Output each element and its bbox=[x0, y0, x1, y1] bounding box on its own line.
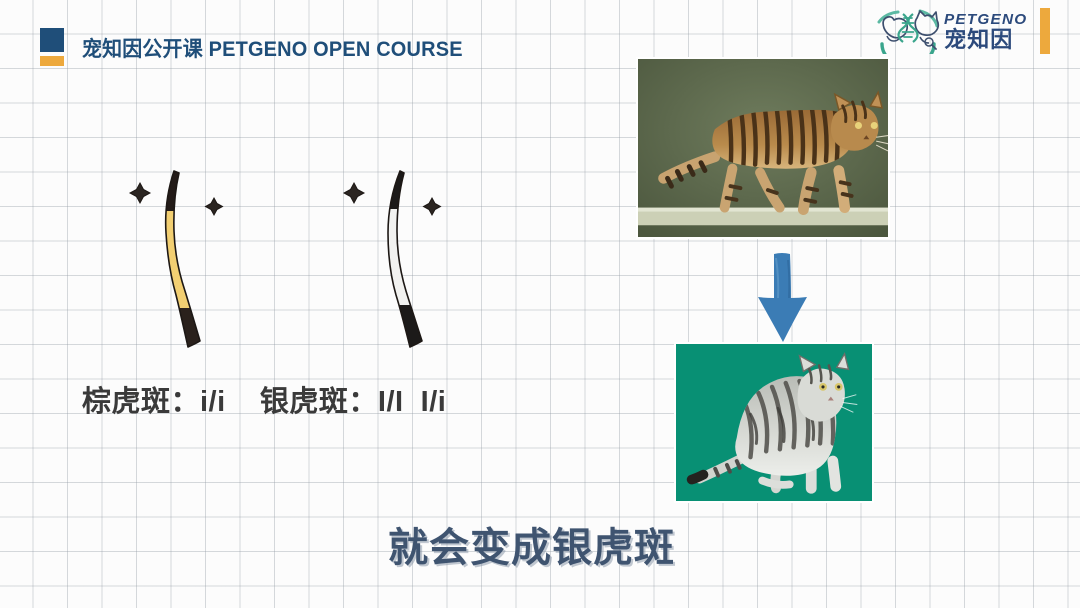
sparkle-icon bbox=[206, 198, 223, 215]
title-marker bbox=[40, 28, 64, 66]
title-marker-bar bbox=[40, 56, 64, 66]
petgeno-logo-icon bbox=[876, 6, 940, 54]
footer-caption: 就会变成银虎斑 bbox=[388, 515, 675, 573]
brown-tabby-hair-illustration bbox=[118, 165, 268, 355]
genotype-caption: 棕虎斑：i/i 银虎斑：I/I I/i bbox=[82, 378, 446, 420]
silver-tabby-photo bbox=[674, 342, 874, 503]
brand-logo: PETGENO 宠知因 bbox=[876, 6, 1026, 54]
down-arrow-icon bbox=[752, 252, 812, 344]
title-marker-square bbox=[40, 28, 64, 52]
silver-tabby-hair-illustration bbox=[330, 165, 480, 355]
logo-brand-en: PETGENO bbox=[944, 12, 1027, 27]
logo-accent-bar bbox=[1040, 8, 1050, 54]
sparkle-icon bbox=[130, 183, 150, 203]
page-title: 宠知因公开课 PETGENO OPEN COURSE bbox=[82, 33, 463, 63]
sparkle-icon bbox=[424, 198, 441, 215]
logo-brand-cn: 宠知因 bbox=[944, 29, 1026, 51]
slide-canvas: 宠知因公开课 PETGENO OPEN COURSE PETGENO 宠知因 bbox=[0, 0, 1080, 608]
brown-tabby-photo bbox=[636, 57, 890, 239]
sparkle-icon bbox=[344, 183, 364, 203]
logo-text-block: PETGENO 宠知因 bbox=[944, 10, 1026, 51]
